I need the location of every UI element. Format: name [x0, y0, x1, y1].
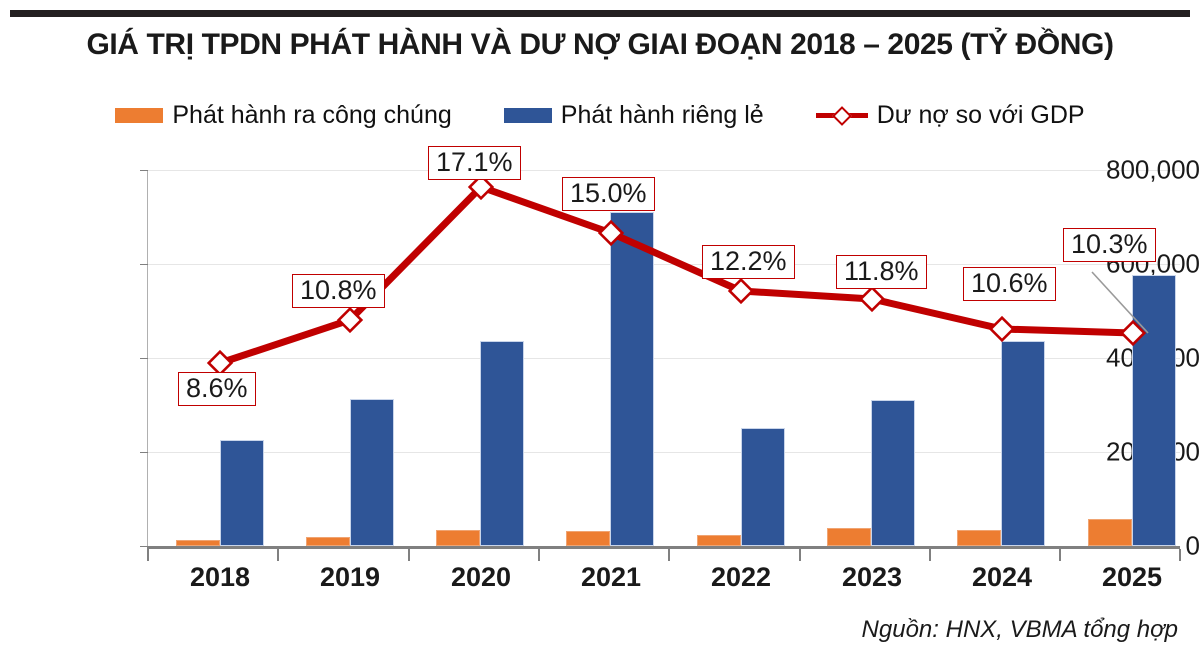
data-label-2025: 10.3%	[1063, 228, 1156, 262]
x-axis-label-2025: 2025	[1067, 562, 1197, 593]
bar-public-2021[interactable]	[566, 531, 610, 546]
data-label-2018: 8.6%	[178, 372, 256, 406]
x-tick-5	[799, 549, 801, 561]
data-label-2021: 15.0%	[562, 177, 655, 211]
source-note: Nguồn: HNX, VBMA tổng hợp	[862, 616, 1178, 644]
x-axis-label-2020: 2020	[416, 562, 546, 593]
data-label-2024: 10.6%	[963, 267, 1056, 301]
x-axis-label-2018: 2018	[155, 562, 285, 593]
data-label-2019: 10.8%	[292, 274, 385, 308]
bar-private-2021[interactable]	[610, 212, 654, 546]
marker-2023	[861, 288, 884, 311]
x-axis-label-2024: 2024	[937, 562, 1067, 593]
x-axis-label-2021: 2021	[546, 562, 676, 593]
x-axis-label-2023: 2023	[807, 562, 937, 593]
x-axis-line	[147, 546, 1180, 549]
bar-public-2025[interactable]	[1088, 519, 1132, 546]
plot-area: 800,000 600,000 400,000 200,000 0	[0, 0, 1200, 663]
bar-private-2020[interactable]	[480, 341, 524, 546]
bar-private-2022[interactable]	[741, 428, 785, 546]
bar-public-2019[interactable]	[306, 537, 350, 546]
y-tick-200000	[140, 452, 148, 453]
x-axis-label-2019: 2019	[285, 562, 415, 593]
bar-public-2020[interactable]	[436, 530, 480, 546]
bar-private-2019[interactable]	[350, 399, 394, 546]
marker-2019	[339, 309, 362, 332]
x-tick-3	[538, 549, 540, 561]
data-label-2023: 11.8%	[836, 255, 927, 289]
gridline-600000	[147, 264, 1180, 265]
bar-public-2024[interactable]	[957, 530, 1001, 546]
x-tick-6	[929, 549, 931, 561]
data-label-2022: 12.2%	[702, 245, 795, 279]
bar-private-2025[interactable]	[1132, 275, 1176, 546]
x-tick-0	[147, 549, 149, 561]
y-tick-800000	[140, 170, 148, 171]
y-tick-400000	[140, 358, 148, 359]
data-label-2020: 17.1%	[428, 146, 521, 180]
x-tick-2	[408, 549, 410, 561]
marker-2018	[209, 352, 232, 375]
y-tick-0	[140, 546, 148, 547]
x-tick-7	[1059, 549, 1061, 561]
bar-public-2023[interactable]	[827, 528, 871, 546]
bar-private-2018[interactable]	[220, 440, 264, 546]
bar-private-2023[interactable]	[871, 400, 915, 546]
chart-page: GIÁ TRỊ TPDN PHÁT HÀNH VÀ DƯ NỢ GIAI ĐOẠ…	[0, 0, 1200, 663]
y-axis-label-800000: 800,000	[1066, 155, 1200, 186]
bar-public-2018[interactable]	[176, 540, 220, 546]
bar-private-2024[interactable]	[1001, 341, 1045, 546]
x-tick-1	[277, 549, 279, 561]
bar-public-2022[interactable]	[697, 535, 741, 546]
x-tick-8	[1179, 549, 1181, 561]
marker-2022	[730, 280, 753, 303]
gridline-800000	[147, 170, 1180, 171]
x-tick-4	[668, 549, 670, 561]
y-tick-600000	[140, 264, 148, 265]
x-axis-label-2022: 2022	[676, 562, 806, 593]
marker-2024	[991, 318, 1014, 341]
